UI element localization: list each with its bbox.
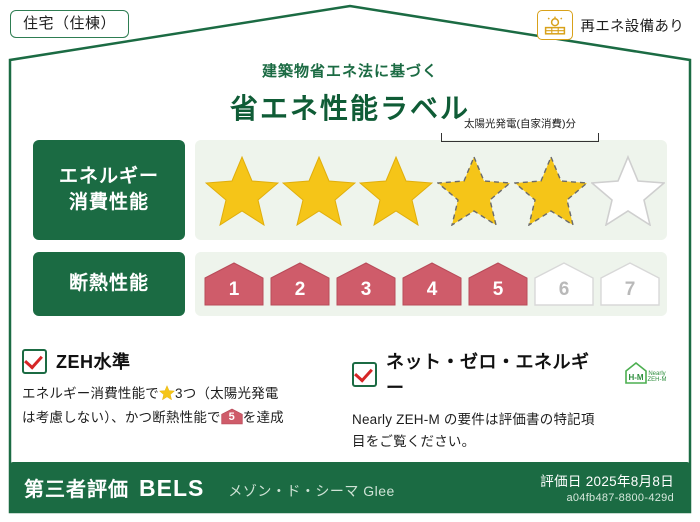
star-icon-4-solar	[435, 151, 512, 229]
inline-star-icon	[159, 385, 175, 407]
insulation-grades-panel: 1 2 3 4 5	[195, 252, 667, 316]
check-zeh-body-2: 3つ（太陽光発電	[175, 386, 279, 401]
star-icon-6-empty	[590, 151, 667, 229]
star-icon-5-solar	[512, 151, 589, 229]
insulation-grade-3: 3	[335, 261, 397, 307]
inline-grade-icon: 5	[221, 408, 243, 425]
energy-stars-panel: 太陽光発電(自家消費)分	[195, 140, 667, 240]
footer-building-name: メゾン・ド・シーマ Glee	[228, 481, 394, 501]
star-icon-1	[203, 151, 280, 229]
check-zeh-title: ZEH水準	[56, 348, 131, 374]
footer-right: 評価日 2025年8月8日 a04fb487-8800-429d	[540, 470, 690, 504]
solar-share-annotation-text: 太陽光発電(自家消費)分	[441, 116, 599, 131]
insulation-grade-3-value: 3	[361, 279, 372, 307]
footer-bels-label: BELS	[139, 475, 204, 502]
solar-panel-icon	[537, 10, 573, 40]
insulation-grade-4-value: 4	[427, 279, 438, 307]
check-zeh-header: ZEH水準	[22, 348, 338, 374]
check-zeh-body-3: は考慮しない）、かつ断熱性能で	[22, 410, 221, 425]
check-net-zero-title: ネット・ゼロ・エネルギー	[386, 348, 595, 400]
check-zeh-body: エネルギー消費性能で3つ（太陽光発電 は考慮しない）、かつ断熱性能で5を達成	[22, 383, 338, 430]
performance-rows: エネルギー 消費性能 太陽光発電(自家消費)分	[33, 140, 667, 328]
insulation-grade-1-value: 1	[229, 279, 240, 307]
inline-grade-value: 5	[221, 408, 243, 426]
energy-row-label-line1: エネルギー	[59, 164, 159, 190]
nearly-zeh-m-badge-icon: H-M Nearly ZEH-M	[612, 357, 668, 391]
energy-row-label-line2: 消費性能	[59, 190, 159, 216]
insulation-grade-5: 5	[467, 261, 529, 307]
svg-text:ZEH-M: ZEH-M	[648, 377, 667, 383]
svg-text:H-M: H-M	[628, 373, 643, 382]
insulation-grade-2-value: 2	[295, 279, 306, 307]
footer-eval-date: 評価日 2025年8月8日	[540, 470, 674, 490]
title-subtitle: 建築物省エネ法に基づく	[0, 60, 700, 81]
checkbox-checked-icon	[352, 362, 377, 387]
footer-bar: 第三者評価 BELS メゾン・ド・シーマ Glee 評価日 2025年8月8日 …	[10, 462, 690, 512]
energy-performance-label: 住宅（住棟） 再エネ設備あり 建築物省エネ法に基づく 省エネ性能ラベル エ	[0, 0, 700, 522]
insulation-grade-5-value: 5	[493, 279, 504, 307]
energy-performance-row: エネルギー 消費性能 太陽光発電(自家消費)分	[33, 140, 667, 240]
insulation-row-label: 断熱性能	[33, 252, 185, 316]
solar-share-annotation: 太陽光発電(自家消費)分	[441, 116, 599, 142]
insulation-grade-6: 6	[533, 261, 595, 307]
check-net-zero-body: Nearly ZEH-M の要件は評価書の特記項 目をご覧ください。	[352, 409, 668, 454]
check-net-zero-body-2: 目をご覧ください。	[352, 434, 475, 449]
footer-eval-number: a04fb487-8800-429d	[540, 492, 674, 504]
footer-eval-label: 第三者評価	[24, 473, 129, 502]
house-type-tag: 住宅（住棟）	[10, 10, 129, 38]
solar-equipment-tag: 再エネ設備あり	[537, 10, 684, 40]
insulation-performance-row: 断熱性能 1 2 3	[33, 252, 667, 316]
energy-row-label: エネルギー 消費性能	[33, 140, 185, 240]
insulation-grade-4: 4	[401, 261, 463, 307]
checkbox-checked-icon	[22, 349, 47, 374]
star-icon-2	[280, 151, 357, 229]
insulation-grade-7: 7	[599, 261, 661, 307]
certification-checks: ZEH水準 エネルギー消費性能で3つ（太陽光発電 は考慮しない）、かつ断熱性能で…	[22, 348, 682, 454]
check-zeh-body-1: エネルギー消費性能で	[22, 386, 159, 401]
insulation-grade-6-value: 6	[559, 279, 570, 307]
check-zeh: ZEH水準 エネルギー消費性能で3つ（太陽光発電 は考慮しない）、かつ断熱性能で…	[22, 348, 352, 454]
check-net-zero: ネット・ゼロ・エネルギー H-M Nearly ZEH-M Nearly ZEH…	[352, 348, 682, 454]
check-zeh-body-4: を達成	[243, 410, 284, 425]
footer-left: 第三者評価 BELS メゾン・ド・シーマ Glee	[10, 473, 395, 502]
check-net-zero-body-1: Nearly ZEH-M の要件は評価書の特記項	[352, 412, 595, 427]
solar-share-bracket	[441, 133, 599, 142]
solar-tag-label: 再エネ設備あり	[580, 15, 684, 36]
insulation-grade-1: 1	[203, 261, 265, 307]
insulation-grade-7-value: 7	[625, 279, 636, 307]
star-icon-3	[358, 151, 435, 229]
insulation-grade-list: 1 2 3 4 5	[195, 252, 667, 316]
star-rating	[195, 140, 667, 240]
check-net-zero-header: ネット・ゼロ・エネルギー H-M Nearly ZEH-M	[352, 348, 668, 400]
insulation-grade-2: 2	[269, 261, 331, 307]
